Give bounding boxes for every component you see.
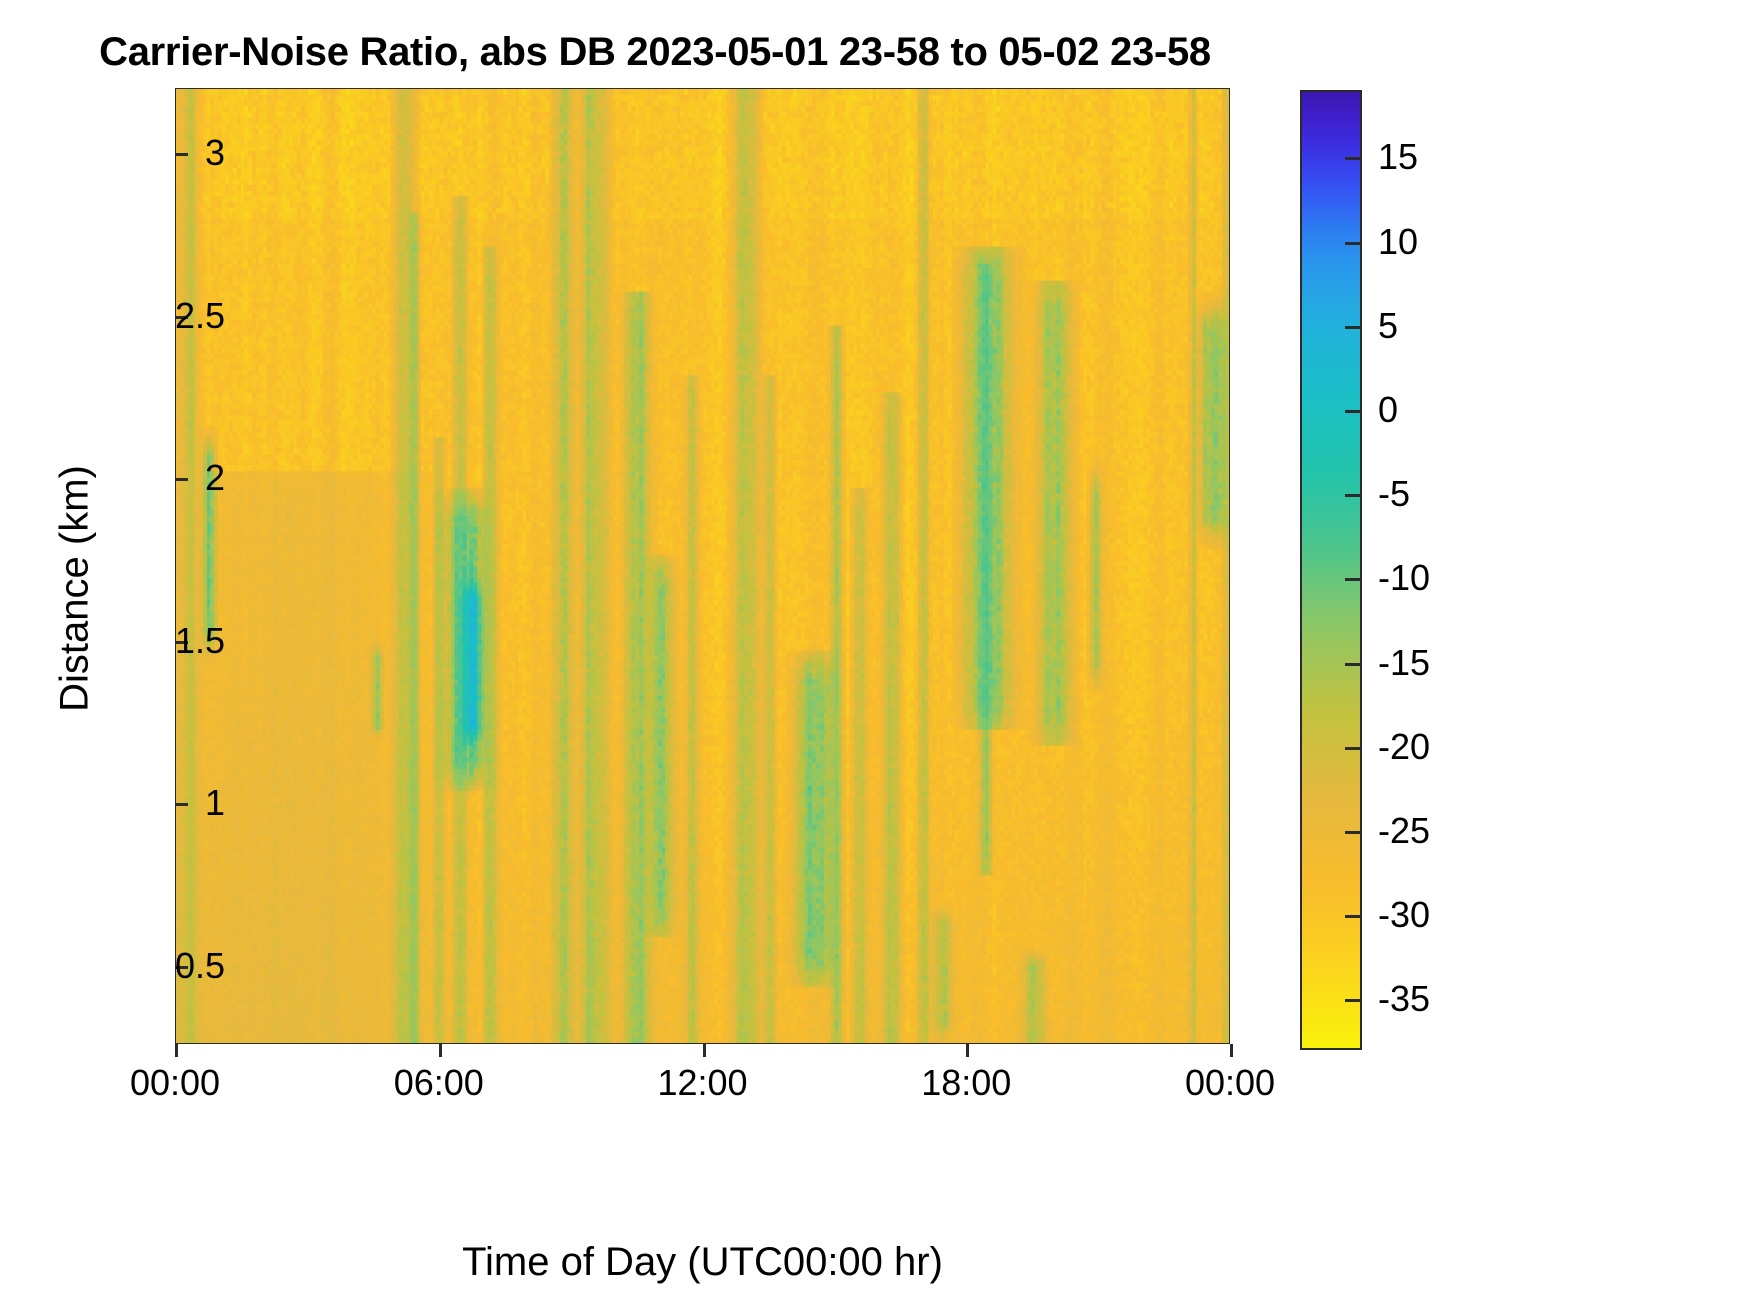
colorbar-tick-mark — [1345, 242, 1362, 245]
x-axis-label: Time of Day (UTC00:00 hr) — [175, 1240, 1230, 1285]
x-tick-label-0: 00:00 — [130, 1062, 220, 1104]
colorbar-tick-label-5: -10 — [1378, 557, 1430, 599]
x-tick-mark — [966, 1044, 969, 1057]
colorbar-tick-mark — [1345, 410, 1362, 413]
colorbar-tick-label-0: 15 — [1378, 136, 1418, 178]
colorbar-tick-label-4: -5 — [1378, 473, 1410, 515]
colorbar-tick-label-7: -20 — [1378, 726, 1430, 768]
colorbar-tick-mark — [1345, 999, 1362, 1002]
x-tick-mark — [1230, 1044, 1233, 1057]
colorbar-tick-mark — [1345, 494, 1362, 497]
colorbar-tick-mark — [1345, 915, 1362, 918]
x-tick-mark — [175, 1044, 178, 1057]
x-tick-label-1: 06:00 — [394, 1062, 484, 1104]
colorbar-tick-label-10: -35 — [1378, 978, 1430, 1020]
heatmap-image — [176, 89, 1229, 1043]
y-axis-label: Distance (km) — [53, 159, 98, 1019]
heatmap-axes[interactable] — [175, 88, 1230, 1044]
chart-title: Carrier-Noise Ratio, abs DB 2023-05-01 2… — [0, 30, 1310, 75]
x-tick-label-2: 12:00 — [657, 1062, 747, 1104]
colorbar-tick-mark — [1345, 326, 1362, 329]
y-tick-mark — [175, 153, 188, 156]
figure-canvas: Carrier-Noise Ratio, abs DB 2023-05-01 2… — [0, 0, 1750, 1313]
colorbar-tick-label-8: -25 — [1378, 810, 1430, 852]
colorbar-tick-mark — [1345, 578, 1362, 581]
x-tick-label-4: 00:00 — [1185, 1062, 1275, 1104]
colorbar-tick-label-6: -15 — [1378, 642, 1430, 684]
colorbar-tick-label-1: 10 — [1378, 221, 1418, 263]
y-tick-mark — [175, 478, 188, 481]
colorbar-gradient — [1302, 92, 1360, 1048]
y-tick-label-3: 2 — [205, 457, 225, 499]
x-tick-mark — [439, 1044, 442, 1057]
x-tick-label-3: 18:00 — [921, 1062, 1011, 1104]
colorbar-tick-mark — [1345, 157, 1362, 160]
colorbar-tick-label-2: 5 — [1378, 305, 1398, 347]
y-tick-label-4: 2.5 — [175, 295, 225, 337]
colorbar-tick-mark — [1345, 747, 1362, 750]
y-tick-label-1: 1 — [205, 782, 225, 824]
colorbar[interactable] — [1300, 90, 1362, 1050]
y-tick-label-5: 3 — [205, 132, 225, 174]
colorbar-tick-mark — [1345, 663, 1362, 666]
colorbar-tick-label-9: -30 — [1378, 894, 1430, 936]
y-tick-label-0: 0.5 — [175, 945, 225, 987]
colorbar-tick-label-3: 0 — [1378, 389, 1398, 431]
colorbar-tick-mark — [1345, 831, 1362, 834]
y-tick-label-2: 1.5 — [175, 620, 225, 662]
y-tick-mark — [175, 803, 188, 806]
x-tick-mark — [703, 1044, 706, 1057]
